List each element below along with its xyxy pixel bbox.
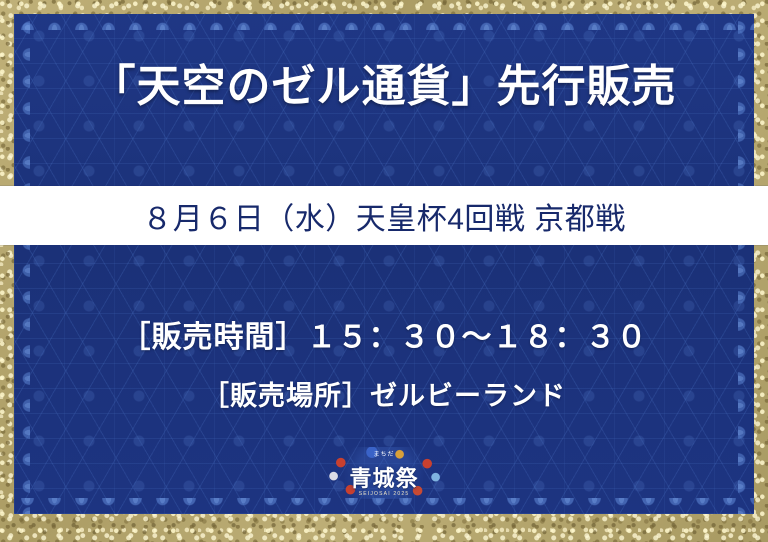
match-date-text: ８月６日（水）天皇杯4回戦 京都戦 xyxy=(142,194,626,238)
sale-place-text: ［販売場所］ゼルビーランド xyxy=(0,374,768,413)
sale-time-text: ［販売時間］１５：３０〜１８：３０ xyxy=(0,312,768,356)
page-title: 「天空のゼル通貨」先行販売 xyxy=(0,62,768,113)
band-bottom-ornament xyxy=(14,498,754,514)
logo-sub-text: SEIJOSAI 2025 xyxy=(324,491,444,497)
band-top-ornament xyxy=(14,14,754,30)
date-ribbon: ８月６日（水）天皇杯4回戦 京都戦 xyxy=(0,186,768,245)
festival-logo: まちだ 青城祭 SEIJOSAI 2025 xyxy=(324,447,444,499)
poster-root: 「天空のゼル通貨」先行販売 ８月６日（水）天皇杯4回戦 京都戦 ［販売時間］１５… xyxy=(0,0,768,542)
logo-mini-text: まちだ xyxy=(324,449,444,458)
logo-main-text: 青城祭 xyxy=(324,461,444,493)
